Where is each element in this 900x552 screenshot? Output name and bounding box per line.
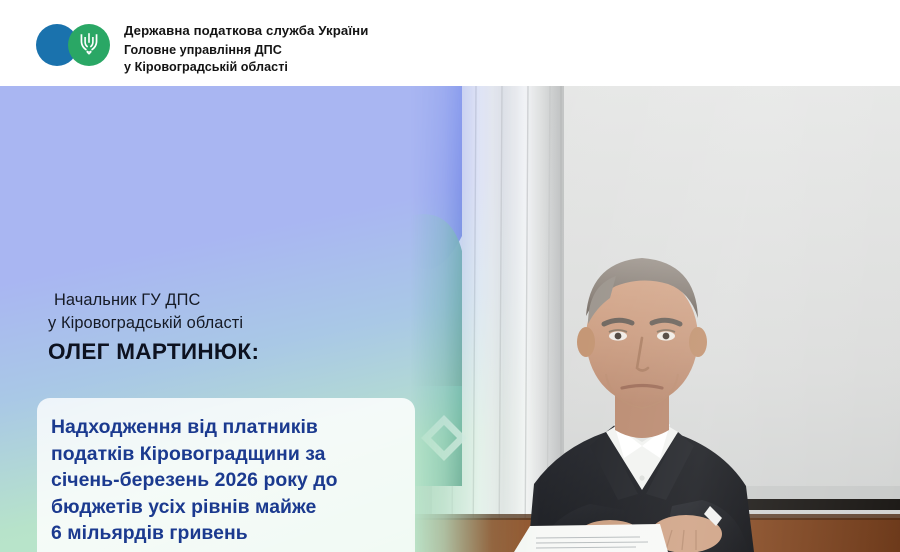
speaker-role-line-1: Начальник ГУ ДПС bbox=[48, 289, 408, 312]
header-org-national: Державна податкова служба України bbox=[124, 22, 644, 39]
quote-line-2: податків Кіровоградщини за bbox=[51, 441, 393, 468]
header-title-group: Державна податкова служба України Головн… bbox=[124, 22, 644, 75]
poster-canvas: Начальник ГУ ДПС у Кіровоградській облас… bbox=[0, 0, 900, 552]
quote-line-4: бюджетів усіх рівнів майже bbox=[51, 494, 393, 521]
quote-line-5: 6 мільярдів гривень bbox=[51, 520, 393, 547]
speaker-role-line-2: у Кіровоградській області bbox=[48, 312, 408, 335]
poster-body: Начальник ГУ ДПС у Кіровоградській облас… bbox=[0, 86, 900, 552]
speaker-intro: Начальник ГУ ДПС у Кіровоградській облас… bbox=[48, 289, 408, 367]
header-org-main: Головне управління ДПС bbox=[124, 42, 644, 59]
header-org-region: у Кіровоградській області bbox=[124, 59, 644, 76]
quote-card: Надходження від платників податків Кіров… bbox=[37, 398, 415, 552]
quote-line-1: Надходження від платників bbox=[51, 414, 393, 441]
dps-logo bbox=[36, 24, 118, 66]
quote-line-3: січень-березень 2026 року до bbox=[51, 467, 393, 494]
header-bar: Державна податкова служба України Головн… bbox=[0, 0, 900, 86]
quote-text: Надходження від платників податків Кіров… bbox=[51, 414, 393, 547]
speaker-name: ОЛЕГ МАРТИНЮК: bbox=[48, 337, 408, 367]
ukraine-trident-icon bbox=[68, 24, 110, 66]
